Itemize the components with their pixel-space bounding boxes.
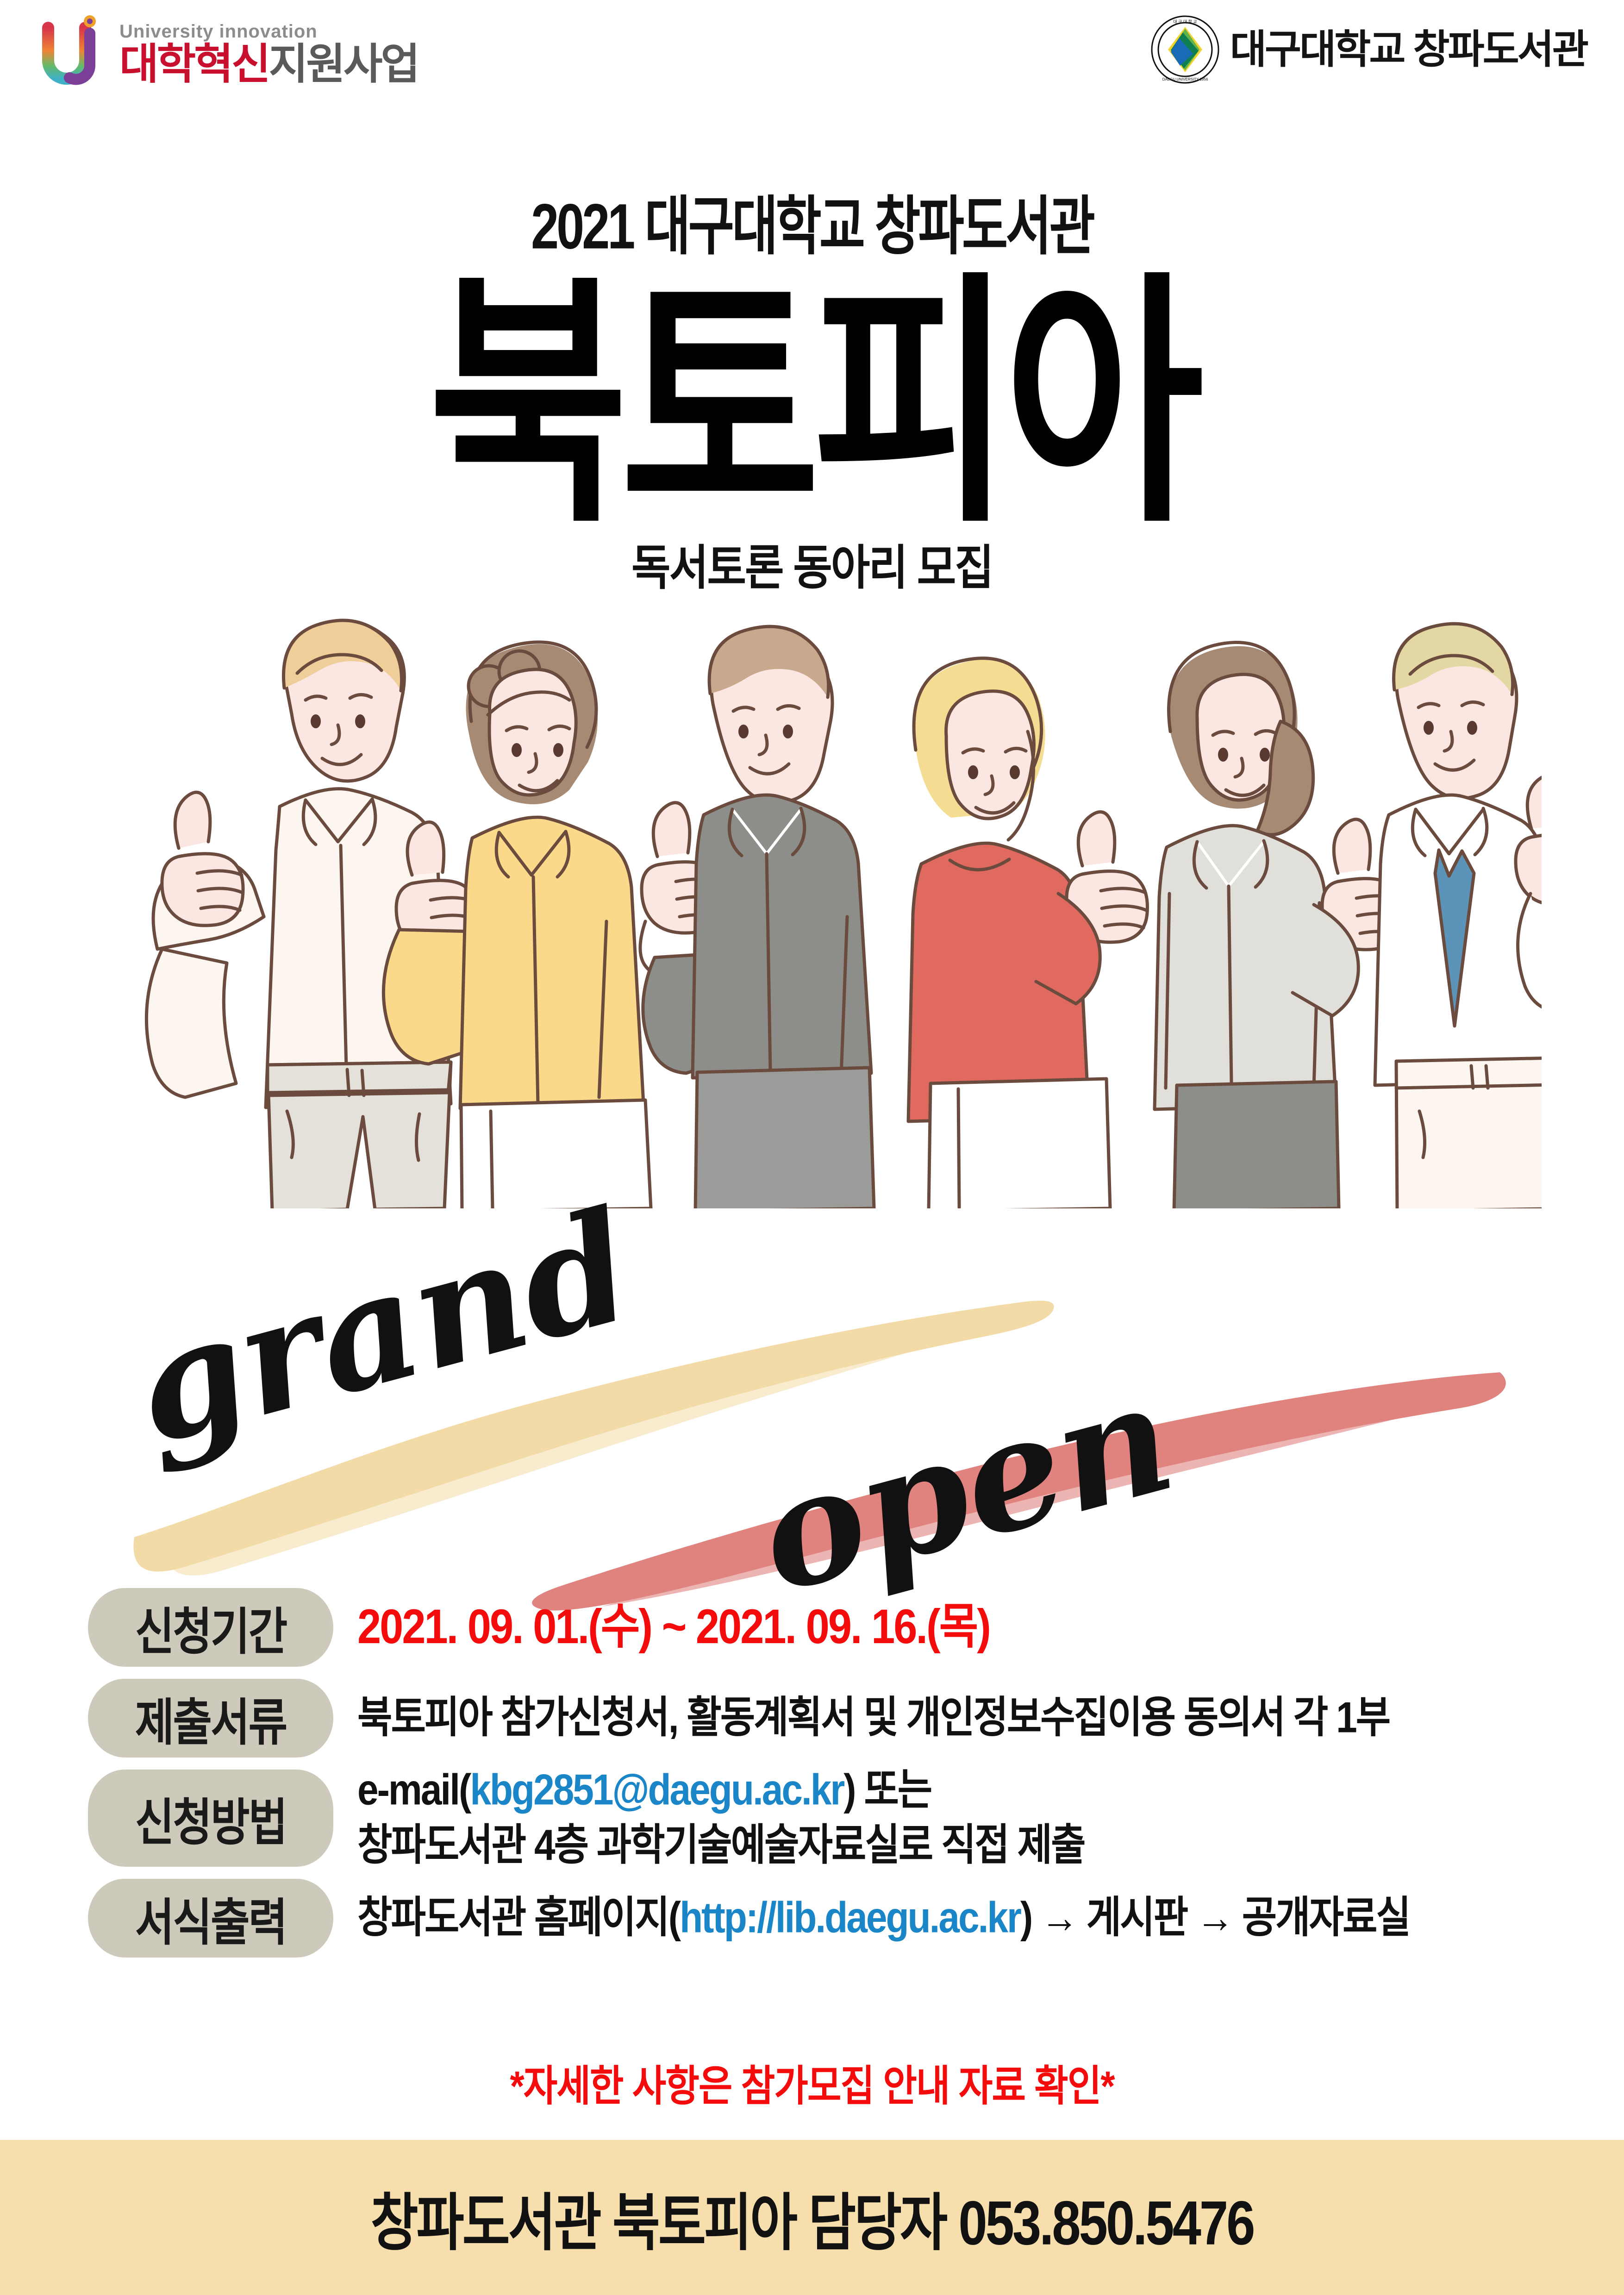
brush-word-open: open xyxy=(741,1346,1190,1620)
university-innovation-logo: University innovation 대학혁신지원사업 xyxy=(42,14,418,93)
poster-kicker: 2021 대구대학교 창파도서관 xyxy=(0,194,1624,258)
how-to-apply-line-1: e-mail(kbg2851@daegu.ac.kr) 또는 xyxy=(357,1763,1085,1818)
uj-mark-icon xyxy=(42,14,111,93)
daegu-university-seal-icon: 대 구 대 학 교 DAEGU UNIVERSITY 1956 xyxy=(1150,15,1220,84)
homepage-link[interactable]: http://lib.daegu.ac.kr xyxy=(680,1894,1020,1942)
email-link[interactable]: kbg2851@daegu.ac.kr xyxy=(470,1766,843,1814)
info-row-required-documents: 제출서류 북토피아 참가신청서, 활동계획서 및 개인정보수집이용 동의서 각 … xyxy=(88,1679,1551,1757)
page-title: 북토피아 xyxy=(0,295,1624,513)
label-pill-application-period: 신청기간 xyxy=(88,1588,333,1667)
poster-title-block: 2021 대구대학교 창파도서관 북토피아 독서토론 동아리 모집 xyxy=(0,194,1624,591)
label-application-period: 신청기간 xyxy=(135,1591,287,1664)
label-pill-form-download: 서식출력 xyxy=(88,1879,333,1957)
value-application-period: 2021. 09. 01.(수) ~ 2021. 09. 16.(목) xyxy=(357,1596,990,1658)
info-row-form-download: 서식출력 창파도서관 홈페이지(http://lib.daegu.ac.kr) … xyxy=(88,1879,1551,1957)
email-suffix-text: ) 또는 xyxy=(843,1766,931,1814)
library-logo: 대 구 대 학 교 DAEGU UNIVERSITY 1956 대구대학교 창파… xyxy=(1150,15,1587,84)
value-form-download: 창파도서관 홈페이지(http://lib.daegu.ac.kr) → 게시판… xyxy=(357,1890,1410,1946)
homepage-prefix-text: 창파도서관 홈페이지( xyxy=(357,1894,680,1942)
info-row-how-to-apply: 신청방법 e-mail(kbg2851@daegu.ac.kr) 또는 창파도서… xyxy=(88,1770,1551,1867)
poster-subtitle: 독서토론 동아리 모집 xyxy=(0,529,1624,598)
value-required-documents: 북토피아 참가신청서, 활동계획서 및 개인정보수집이용 동의서 각 1부 xyxy=(357,1690,1389,1746)
ui-logo-english-label: University innovation xyxy=(119,21,418,42)
svg-text:대 구 대 학 교: 대 구 대 학 교 xyxy=(1173,19,1197,24)
six-people-thumbs-up-illustration xyxy=(88,597,1542,1208)
grand-open-brush-graphic: grand open xyxy=(116,1185,1528,1620)
label-how-to-apply: 신청방법 xyxy=(135,1782,287,1855)
label-pill-how-to-apply: 신청방법 xyxy=(88,1770,333,1867)
info-row-application-period: 신청기간 2021. 09. 01.(수) ~ 2021. 09. 16.(목) xyxy=(88,1588,1551,1667)
email-prefix-text: e-mail( xyxy=(357,1766,470,1814)
ui-logo-korean-red: 대학혁신 xyxy=(119,41,269,88)
detail-note: *자세한 사항은 참가모집 안내 자료 확인* xyxy=(0,2052,1624,2113)
contact-footer-bar: 창파도서관 북토피아 담당자 053.850.5476 xyxy=(0,2140,1624,2295)
contact-footer-text: 창파도서관 북토피아 담당자 053.850.5476 xyxy=(371,2172,1254,2262)
label-required-documents: 제출서류 xyxy=(135,1682,287,1755)
application-info-table: 신청기간 2021. 09. 01.(수) ~ 2021. 09. 16.(목)… xyxy=(88,1588,1551,1970)
ui-logo-korean-gray: 지원사업 xyxy=(269,41,418,88)
svg-text:DAEGU UNIVERSITY 1956: DAEGU UNIVERSITY 1956 xyxy=(1162,77,1208,81)
how-to-apply-line-2: 창파도서관 4층 과학기술예술자료실로 직접 제출 xyxy=(357,1818,1085,1874)
library-name-label: 대구대학교 창파도서관 xyxy=(1230,30,1587,69)
label-pill-required-documents: 제출서류 xyxy=(88,1679,333,1757)
homepage-suffix-text: ) → 게시판 → 공개자료실 xyxy=(1020,1894,1410,1942)
value-how-to-apply: e-mail(kbg2851@daegu.ac.kr) 또는 창파도서관 4층 … xyxy=(357,1763,1085,1873)
label-form-download: 서식출력 xyxy=(135,1882,287,1955)
